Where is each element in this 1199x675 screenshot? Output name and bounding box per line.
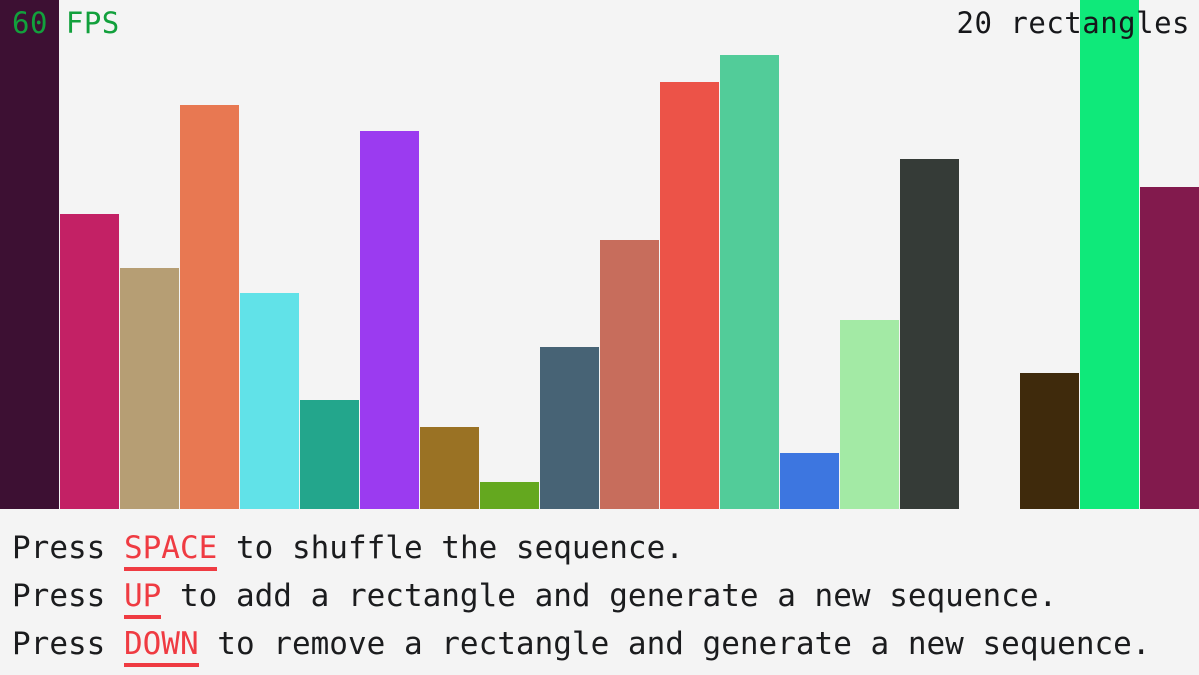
- rectangle-chart: [0, 0, 1199, 509]
- instruction-prefix: Press: [12, 530, 124, 566]
- bar-5-cyan: [240, 293, 299, 509]
- instruction-suffix: to shuffle the sequence.: [217, 530, 684, 566]
- bar-4-orange: [180, 105, 239, 509]
- game-canvas: 60 FPS 20 rectangles Press SPACE to shuf…: [0, 0, 1199, 675]
- bar-3-khaki-tan: [120, 268, 179, 509]
- bar-14-blue: [780, 453, 839, 509]
- key-space[interactable]: SPACE: [124, 530, 217, 571]
- instruction-prefix: Press: [12, 626, 124, 662]
- instruction-line-3: Press DOWN to remove a rectangle and gen…: [0, 620, 1199, 668]
- instruction-suffix: to remove a rectangle and generate a new…: [199, 626, 1151, 662]
- bar-6-teal: [300, 400, 359, 509]
- instruction-suffix: to add a rectangle and generate a new se…: [161, 578, 1057, 614]
- instruction-line-2: Press UP to add a rectangle and generate…: [0, 572, 1199, 620]
- rectangle-count-label: 20 rectangles: [957, 9, 1190, 38]
- bar-1-dark-plum: [0, 0, 59, 509]
- instruction-line-1: Press SPACE to shuffle the sequence.: [0, 524, 1199, 572]
- bar-10-slate-blue: [540, 347, 599, 509]
- fps-counter: 60 FPS: [12, 9, 120, 38]
- bar-13-emerald: [720, 55, 779, 509]
- bar-19-spring-green: [1080, 0, 1139, 509]
- bar-8-brown: [420, 427, 479, 509]
- bar-2-magenta: [60, 214, 119, 509]
- bar-11-terracotta: [600, 240, 659, 509]
- key-down[interactable]: DOWN: [124, 626, 199, 667]
- bar-15-light-green: [840, 320, 899, 509]
- bar-9-olive-green: [480, 482, 539, 509]
- instructions-panel: Press SPACE to shuffle the sequence.Pres…: [0, 509, 1199, 675]
- bar-12-red: [660, 82, 719, 509]
- key-up[interactable]: UP: [124, 578, 161, 619]
- bar-18-dark-brown: [1020, 373, 1079, 509]
- bar-7-purple: [360, 131, 419, 509]
- bar-16-charcoal: [900, 159, 959, 509]
- bar-20-dark-magenta: [1140, 187, 1199, 509]
- instruction-prefix: Press: [12, 578, 124, 614]
